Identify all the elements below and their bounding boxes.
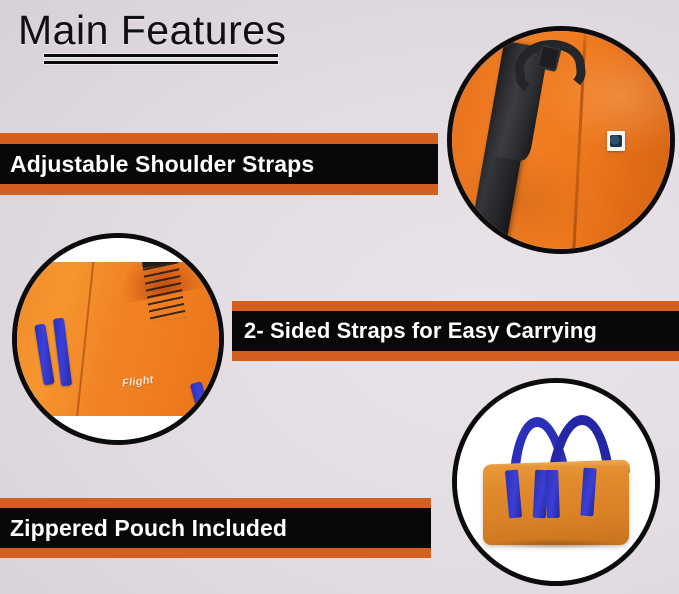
feature-label: Adjustable Shoulder Straps [10,153,314,176]
photo-content: Flight [17,238,219,440]
feature-banner-zippered-pouch: Zippered Pouch Included [0,498,431,558]
brand-text: Flight [121,374,154,390]
infographic-canvas: Main Features Adjustable Shoulder Straps… [0,0,679,594]
feature-label: 2- Sided Straps for Easy Carrying [244,320,597,342]
title-underline-rule-bottom [44,61,278,64]
title-underline-rule-top [44,54,278,57]
page-title: Main Features [18,8,438,53]
blue-strap [34,323,55,385]
photo-content [452,31,670,249]
photo-shoulder-strap-closeup [447,26,675,254]
blue-strap [190,381,213,416]
photo-pocket-and-blue-straps: Flight [12,233,224,445]
photo-content [457,383,655,581]
fabric-seam [74,262,94,416]
feature-banner-band: 2- Sided Straps for Easy Carrying [232,311,679,351]
feature-banner-adjustable-shoulder-straps: Adjustable Shoulder Straps [0,133,438,195]
title-block: Main Features [18,8,438,53]
pouch-shadow [489,539,624,549]
title-underline [44,54,278,64]
feature-banner-two-sided-straps: 2- Sided Straps for Easy Carrying [232,301,679,361]
photo-zippered-pouch [452,378,660,586]
pocket-photo-frame: Flight [17,262,219,416]
brand-logo-icon [610,135,621,147]
blue-strap [53,317,72,385]
feature-banner-band: Adjustable Shoulder Straps [0,144,438,184]
brand-label-tag [607,131,626,151]
handle-attachment [545,470,560,518]
feature-banner-band: Zippered Pouch Included [0,508,431,548]
feature-label: Zippered Pouch Included [10,517,287,540]
